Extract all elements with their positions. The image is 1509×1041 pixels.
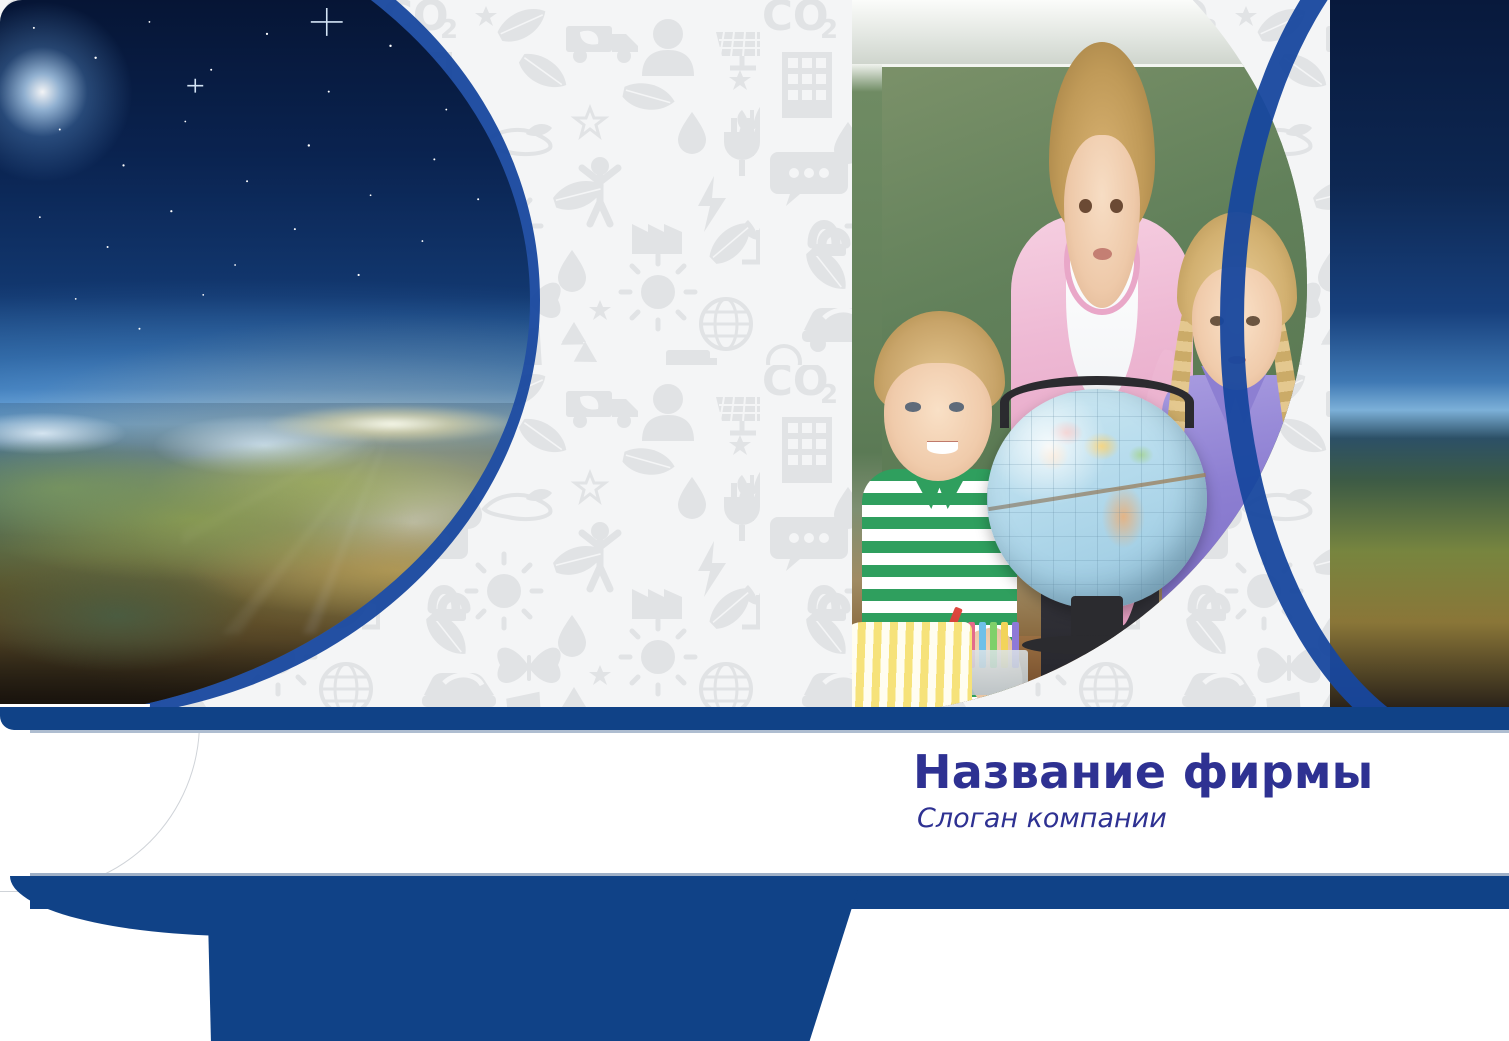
company-name: Название фирмы: [913, 748, 1473, 798]
blue-trapezoid-footer: [207, 876, 862, 1041]
brand-block: Название фирмы Слоган компании: [913, 748, 1473, 833]
teacher-eye-right: [1110, 199, 1123, 214]
boy-smile: [927, 442, 958, 454]
company-slogan: Слоган компании: [917, 804, 1473, 834]
business-card-canvas: CO 2: [0, 0, 1509, 1041]
boy-eye-left: [905, 402, 921, 412]
boy-face: [884, 363, 993, 482]
boy-eye-right: [949, 402, 965, 412]
blue-bar-bottom-left-curve: [10, 876, 240, 936]
globe-sphere: [987, 389, 1207, 609]
blue-divider-bar-top: [30, 707, 1509, 730]
globe-graticule: [987, 389, 1207, 609]
child-yellow-striped-sleeve: [852, 622, 972, 707]
panel-top-hairline: [30, 730, 1509, 733]
globe-object: [987, 389, 1207, 609]
